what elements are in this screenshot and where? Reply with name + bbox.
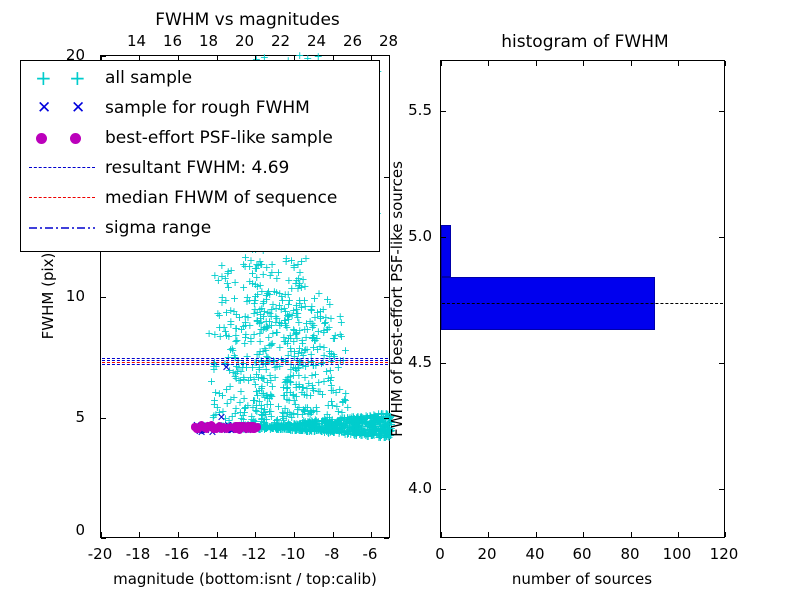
data-point-psf-like (242, 423, 249, 430)
data-point-psf-like (221, 425, 228, 432)
bottom-xtick-1: -18 (126, 545, 151, 563)
right-ytick-mark-r55 (719, 111, 724, 112)
data-point-psf-like (238, 422, 245, 429)
right-xtick-mark-t20 (488, 61, 489, 66)
right-xtick-mark-20 (488, 532, 489, 537)
right-xtick-60: 60 (572, 545, 591, 563)
data-point-psf-like (246, 425, 253, 432)
data-point-psf-like (233, 423, 240, 430)
legend-item-median-fwhm[interactable]: median FHWM of sequence (25, 183, 337, 213)
data-point-psf-like (191, 424, 198, 431)
data-point-psf-like (194, 426, 201, 433)
left-panel-title: FWHM vs magnitudes (105, 10, 390, 30)
data-point-psf-like (216, 423, 223, 430)
right-xtick-mark-t80 (631, 61, 632, 66)
data-point-psf-like (191, 423, 198, 430)
data-point-psf-like (231, 424, 238, 431)
data-point-psf-like (204, 422, 211, 429)
right-xtick-mark-120 (725, 532, 726, 537)
xtick-mark-b7 (371, 532, 372, 537)
right-xtick-20: 20 (477, 545, 496, 563)
figure-canvas: FWHM vs magnitudes 14 16 18 20 22 24 26 … (0, 0, 800, 600)
red-dashed-line-icon (25, 183, 99, 213)
data-point-psf-like (212, 425, 219, 432)
data-point-psf-like (205, 422, 212, 429)
right-xtick-mark-t100 (678, 61, 679, 66)
data-point-psf-like (220, 423, 227, 430)
data-point-psf-like (236, 422, 243, 429)
bottom-xtick-0: -20 (88, 545, 113, 563)
right-xtick-80: 80 (620, 545, 639, 563)
circle-marker-icon (25, 123, 99, 153)
data-point-psf-like (244, 422, 251, 429)
data-point-psf-like (211, 425, 218, 432)
data-point-psf-like (250, 426, 257, 433)
data-point-psf-like (243, 426, 250, 433)
xtick-mark-b2 (178, 532, 179, 537)
data-point-psf-like (193, 426, 200, 433)
data-point-psf-like (233, 422, 240, 429)
data-point-psf-like (232, 426, 239, 433)
right-ytick-mark-45 (441, 363, 446, 364)
legend: + + all sample ✕ ✕ sample for rough FWHM… (20, 60, 380, 252)
right-xtick-mark-t40 (536, 61, 537, 66)
data-point-psf-like (232, 423, 239, 430)
xtick-mark-b4 (255, 532, 256, 537)
data-point-psf-like (199, 423, 206, 430)
resultant-fwhm-line (102, 358, 388, 359)
legend-label-0: all sample (105, 68, 192, 88)
data-point-psf-like (245, 422, 252, 429)
data-point-psf-like (248, 425, 255, 432)
right-xtick-mark-80 (631, 532, 632, 537)
data-point-psf-like (236, 427, 243, 434)
data-point-psf-like (224, 424, 231, 431)
x-marker-icon: ✕ ✕ (25, 93, 99, 123)
data-point-psf-like (239, 422, 246, 429)
right-panel-title: histogram of FWHM (440, 32, 730, 52)
data-point-psf-like (247, 422, 254, 429)
data-point-psf-like (195, 426, 202, 433)
data-point-psf-like (210, 426, 217, 433)
right-ytick-45: 4.5 (408, 353, 432, 371)
legend-label-1: sample for rough FWHM (105, 98, 310, 118)
xtick-mark-b5 (294, 532, 295, 537)
right-xtick-120: 120 (710, 545, 739, 563)
histogram-bar (441, 225, 451, 278)
data-point-psf-like (210, 425, 217, 432)
data-point-psf-like (245, 425, 252, 432)
legend-item-resultant-fwhm[interactable]: resultant FWHM: 4.69 (25, 153, 289, 183)
xtick-mark-b3 (217, 532, 218, 537)
bottom-xtick-3: -14 (204, 545, 229, 563)
data-point-psf-like (254, 423, 261, 430)
data-point-psf-like (223, 426, 230, 433)
data-point-psf-like (241, 423, 248, 430)
right-xtick-40: 40 (525, 545, 544, 563)
data-point-psf-like (221, 424, 228, 431)
right-xtick-100: 100 (663, 545, 692, 563)
data-point-psf-like (250, 422, 257, 429)
blue-dashdot-line-icon (25, 213, 99, 243)
sigma-range-lower-line (102, 364, 388, 365)
data-point-psf-like (252, 425, 259, 432)
right-ytick-mark-r45 (719, 363, 724, 364)
bottom-xtick-5: -10 (281, 545, 306, 563)
data-point-psf-like (236, 424, 243, 431)
data-point-psf-like (246, 424, 253, 431)
legend-item-sigma-range[interactable]: sigma range (25, 213, 211, 243)
data-point-psf-like (206, 423, 213, 430)
left-y-axis-title: FWHM (pix) (39, 253, 57, 340)
right-y-axis-title: FWHM of best-effort PSF-like sources (388, 161, 406, 437)
right-xtick-mark-t0 (441, 61, 442, 66)
data-point-psf-like (237, 422, 244, 429)
blue-dashed-line-icon (25, 153, 99, 183)
right-ytick-mark-r40 (719, 489, 724, 490)
right-ytick-mark-50 (441, 237, 446, 238)
ytick-mark-right-0 (384, 538, 389, 539)
right-xtick-mark-t120 (725, 61, 726, 66)
top-xtick-1: 16 (163, 32, 182, 50)
ytick-mark-5 (101, 418, 106, 419)
top-xtick-2: 18 (199, 32, 218, 50)
data-point-psf-like (245, 422, 252, 429)
right-ytick-mark-40 (441, 489, 446, 490)
right-xtick-mark-60 (583, 532, 584, 537)
histogram-reference-line (442, 303, 723, 304)
data-point-psf-like (251, 425, 258, 432)
legend-label-4: median FHWM of sequence (105, 188, 337, 208)
top-xtick-3: 20 (235, 32, 254, 50)
data-point-psf-like (198, 421, 205, 428)
data-point-psf-like (253, 424, 260, 431)
histogram-bars-layer (441, 61, 724, 537)
ytick-mark-0 (101, 538, 106, 539)
bottom-xtick-7: -6 (363, 545, 378, 563)
data-point-psf-like (217, 423, 224, 430)
data-point-psf-like (218, 426, 225, 433)
data-point-psf-like (194, 426, 201, 433)
bottom-xtick-6: -8 (325, 545, 340, 563)
data-point-psf-like (226, 424, 233, 431)
data-point-psf-like (232, 422, 239, 429)
data-point-psf-like (211, 426, 218, 433)
right-ytick-50: 5.0 (408, 227, 432, 245)
data-point-psf-like (206, 423, 213, 430)
legend-item-all-sample[interactable]: + + all sample (25, 63, 192, 93)
data-point-psf-like (201, 425, 208, 432)
right-x-axis-title: number of sources (512, 570, 652, 588)
data-point-psf-like (253, 425, 260, 432)
top-xtick-4: 22 (271, 32, 290, 50)
legend-label-5: sigma range (105, 218, 211, 238)
data-point-psf-like (208, 421, 215, 428)
data-point-psf-like (246, 422, 253, 429)
data-point-psf-like (254, 424, 261, 431)
data-point-psf-like (213, 424, 220, 431)
top-xtick-7: 28 (379, 32, 398, 50)
data-point-psf-like (234, 423, 241, 430)
median-fwhm-line (102, 362, 388, 363)
data-point-psf-like (250, 426, 257, 433)
right-xtick-mark-40 (536, 532, 537, 537)
sigma-range-upper-line (102, 360, 388, 361)
data-point-psf-like (227, 423, 234, 430)
data-point-psf-like (233, 422, 240, 429)
right-xtick-mark-0 (441, 532, 442, 537)
data-point-psf-like (234, 425, 241, 432)
data-point-psf-like (249, 422, 256, 429)
right-ytick-mark-55 (441, 111, 446, 112)
data-point-psf-like (234, 425, 241, 432)
left-x-axis-title: magnitude (bottom:isnt / top:calib) (113, 570, 377, 588)
data-point-psf-like (242, 425, 249, 432)
bottom-xtick-4: -12 (242, 545, 267, 563)
data-point-psf-like (252, 425, 259, 432)
data-point-psf-like (207, 422, 214, 429)
legend-item-rough-fwhm[interactable]: ✕ ✕ sample for rough FWHM (25, 93, 310, 123)
data-point-psf-like (193, 424, 200, 431)
left-ytick-10: 10 (66, 287, 85, 305)
bottom-xtick-2: -16 (165, 545, 190, 563)
xtick-mark-b6 (333, 532, 334, 537)
plus-marker-icon: + + (25, 63, 99, 93)
right-xtick-mark-100 (678, 532, 679, 537)
ytick-mark-10 (101, 297, 106, 298)
data-point-psf-like (214, 425, 221, 432)
data-point-psf-like (192, 424, 199, 431)
data-point-psf-like (240, 422, 247, 429)
data-point-psf-like (227, 424, 234, 431)
left-ytick-5: 5 (75, 408, 85, 426)
data-point-psf-like (238, 424, 245, 431)
data-point-psf-like (247, 422, 254, 429)
data-point-psf-like (217, 423, 224, 430)
xtick-mark-b0 (101, 532, 102, 537)
right-axes-frame (440, 60, 725, 538)
data-point-psf-like (235, 422, 242, 429)
data-point-psf-like (192, 423, 199, 430)
data-point-psf-like (232, 426, 239, 433)
left-ytick-0: 0 (75, 521, 85, 539)
data-point-psf-like (213, 426, 220, 433)
top-xtick-0: 14 (127, 32, 146, 50)
right-xtick-mark-t60 (583, 61, 584, 66)
legend-label-2: best-effort PSF-like sample (105, 128, 333, 148)
legend-label-3: resultant FWHM: 4.69 (105, 158, 289, 178)
top-xtick-5: 24 (307, 32, 326, 50)
right-ytick-55: 5.5 (408, 101, 432, 119)
data-point-psf-like (236, 423, 243, 430)
xtick-mark-b1 (139, 532, 140, 537)
top-xtick-6: 26 (343, 32, 362, 50)
data-point-psf-like (252, 424, 259, 431)
data-point-psf-like (238, 425, 245, 432)
data-point-psf-like (223, 424, 230, 431)
right-xtick-0: 0 (435, 545, 445, 563)
data-point-psf-like (247, 426, 254, 433)
right-ytick-mark-r50 (719, 237, 724, 238)
data-point-psf-like (203, 426, 210, 433)
legend-item-psf-like[interactable]: best-effort PSF-like sample (25, 123, 333, 153)
data-point-psf-like (215, 423, 222, 430)
data-point-psf-like (251, 426, 258, 433)
data-point-psf-like (202, 425, 209, 432)
right-ytick-40: 4.0 (408, 479, 432, 497)
data-point-psf-like (209, 422, 216, 429)
data-point-psf-like (194, 426, 201, 433)
data-point-psf-like (216, 422, 223, 429)
